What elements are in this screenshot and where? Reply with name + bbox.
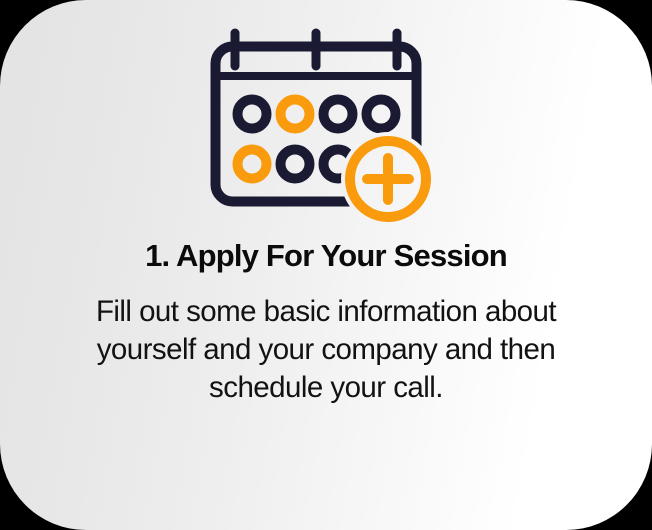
day-ring: [367, 100, 396, 129]
step-heading: 1. Apply For Your Session: [36, 238, 616, 275]
day-ring: [324, 100, 353, 129]
day-ring-highlighted: [238, 150, 267, 179]
calendar-plus-icon: [210, 28, 442, 224]
day-ring: [281, 150, 310, 179]
plus-glyph-icon: [367, 158, 409, 200]
step-description: Fill out some basic information about yo…: [62, 293, 590, 408]
icon-area: [0, 28, 652, 233]
day-ring: [238, 100, 267, 129]
step-card: 1. Apply For Your Session Fill out some …: [0, 0, 652, 530]
day-ring-highlighted: [281, 100, 310, 129]
text-area: 1. Apply For Your Session Fill out some …: [36, 238, 616, 408]
